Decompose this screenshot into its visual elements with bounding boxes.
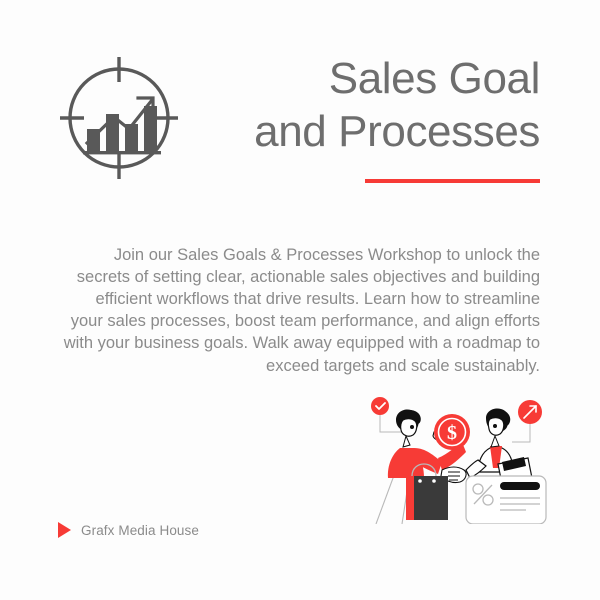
body-paragraph: Join our Sales Goals & Processes Worksho… [60,244,540,377]
discount-card-icon [466,476,546,524]
brand-label: Grafx Media House [81,523,199,538]
check-badge-icon [371,397,389,415]
play-triangle-icon [58,522,71,538]
trend-arrow-badge-icon [518,400,542,424]
poster-canvas: Sales Goal and Processes Join our Sales … [0,0,600,600]
svg-text:$: $ [447,422,457,444]
target-bar-chart-growth-icon [58,52,184,184]
page-title-line-2: and Processes [180,105,540,158]
dollar-coin-icon: $ [434,414,470,450]
page-title: Sales Goal and Processes [180,52,540,183]
page-title-line-1: Sales Goal [180,52,540,105]
footer-brand: Grafx Media House [58,522,199,538]
handshake-deal-illustration: $ [362,396,562,524]
title-underline-rule [365,179,540,183]
